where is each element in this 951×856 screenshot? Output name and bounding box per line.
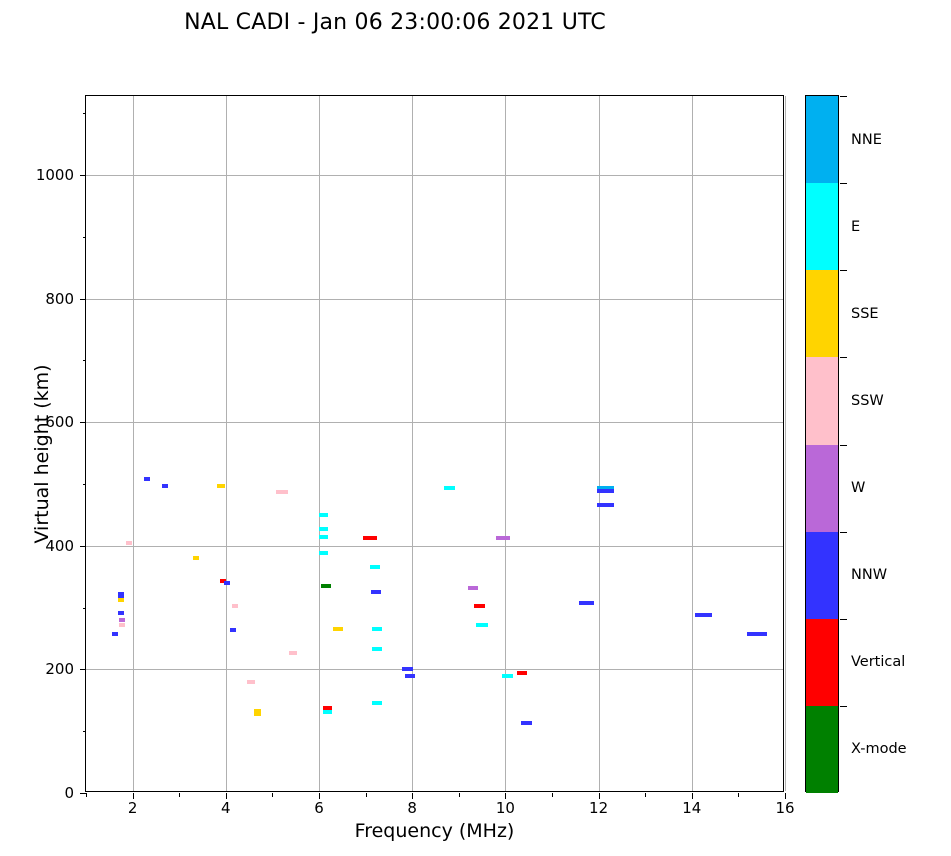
echo-marker — [372, 627, 382, 631]
x-minor-tick — [179, 793, 180, 797]
echo-marker — [444, 486, 456, 490]
x-tick-label: 10 — [496, 799, 515, 817]
x-minor-tick — [645, 793, 646, 797]
colorbar-label-nne: NNE — [851, 132, 882, 148]
y-gridline — [86, 669, 783, 670]
echo-marker — [517, 671, 527, 675]
echo-marker — [118, 611, 124, 615]
colorbar-tick — [840, 619, 847, 620]
echo-marker — [323, 710, 332, 714]
x-minor-tick — [459, 793, 460, 797]
x-gridline — [692, 96, 693, 791]
colorbar-label-sse: SSE — [851, 306, 879, 322]
echo-marker — [319, 513, 328, 517]
colorbar-segment-vertical[interactable] — [806, 619, 838, 706]
echo-marker — [695, 613, 713, 617]
echo-marker — [126, 541, 132, 545]
echo-marker — [112, 632, 118, 636]
echo-marker — [363, 536, 377, 540]
colorbar-tick — [840, 183, 847, 184]
colorbar-segment-sse[interactable] — [806, 270, 838, 357]
y-gridline — [86, 175, 783, 176]
echo-marker — [119, 623, 125, 627]
y-minor-tick — [83, 731, 87, 732]
colorbar-tick — [840, 357, 847, 358]
colorbar-label-ssw: SSW — [851, 393, 884, 409]
x-tick-label: 2 — [128, 799, 138, 817]
echo-marker — [521, 721, 532, 725]
echo-marker — [502, 674, 513, 678]
colorbar-label-e: E — [851, 219, 860, 235]
colorbar-label-w: W — [851, 480, 865, 496]
x-gridline — [505, 96, 506, 791]
echo-marker — [370, 565, 380, 569]
echo-marker — [747, 632, 767, 636]
y-tick — [80, 175, 86, 176]
echo-marker — [333, 627, 343, 631]
echo-marker — [232, 604, 238, 608]
echo-marker — [321, 584, 330, 588]
x-minor-tick — [366, 793, 367, 797]
y-tick-label: 200 — [45, 660, 74, 678]
echo-marker — [118, 598, 124, 602]
colorbar-tick — [840, 706, 847, 707]
x-tick-label: 6 — [314, 799, 324, 817]
y-tick-label: 1000 — [36, 166, 74, 184]
y-tick — [80, 793, 86, 794]
x-minor-tick — [272, 793, 273, 797]
x-tick-label: 16 — [775, 799, 794, 817]
colorbar-label-nnw: NNW — [851, 567, 887, 583]
echo-marker — [276, 490, 288, 494]
y-gridline — [86, 299, 783, 300]
echo-marker — [230, 628, 236, 632]
y-axis-title: Virtual height (km) — [31, 324, 53, 584]
colorbar-tick — [840, 445, 847, 446]
x-tick-label: 8 — [407, 799, 417, 817]
colorbar-segment-w[interactable] — [806, 445, 838, 532]
echo-marker — [468, 586, 478, 590]
colorbar-segment-e[interactable] — [806, 183, 838, 270]
echo-marker — [474, 604, 485, 608]
x-tick-label: 14 — [682, 799, 701, 817]
y-tick — [80, 669, 86, 670]
echo-marker — [144, 477, 150, 481]
y-minor-tick — [83, 608, 87, 609]
y-gridline — [86, 546, 783, 547]
echo-marker — [319, 527, 328, 531]
y-minor-tick — [83, 484, 87, 485]
y-tick — [80, 546, 86, 547]
x-gridline — [599, 96, 600, 791]
echo-marker — [193, 556, 199, 560]
colorbar-tick — [840, 532, 847, 533]
echo-marker — [319, 535, 328, 539]
y-minor-tick — [83, 237, 87, 238]
echo-marker — [476, 623, 488, 627]
echo-marker — [372, 647, 382, 651]
echo-marker — [247, 680, 255, 684]
x-minor-tick — [552, 793, 553, 797]
echo-marker — [217, 484, 225, 488]
x-gridline — [133, 96, 134, 791]
x-minor-tick — [86, 793, 87, 797]
echo-marker — [402, 667, 412, 671]
y-tick-label: 0 — [64, 784, 74, 802]
colorbar-segment-x-mode[interactable] — [806, 706, 838, 793]
x-minor-tick — [738, 793, 739, 797]
ionogram-plot-area: 24681012141602004006008001000 — [85, 95, 784, 792]
echo-marker — [405, 674, 415, 678]
echo-marker — [224, 581, 231, 585]
echo-marker — [496, 536, 510, 540]
colorbar-tick — [840, 270, 847, 271]
colorbar-segment-nne[interactable] — [806, 96, 838, 183]
x-gridline — [226, 96, 227, 791]
x-tick-label: 4 — [221, 799, 231, 817]
echo-marker — [162, 484, 168, 488]
echo-marker — [319, 551, 328, 555]
echo-marker — [372, 701, 382, 705]
y-gridline — [86, 422, 783, 423]
echo-marker — [597, 489, 613, 493]
colorbar-label-vertical: Vertical — [851, 654, 905, 670]
colorbar-segment-nnw[interactable] — [806, 532, 838, 619]
y-minor-tick — [83, 360, 87, 361]
echo-marker — [119, 618, 125, 622]
x-tick-label: 12 — [589, 799, 608, 817]
echo-marker — [371, 590, 381, 594]
y-minor-tick — [83, 113, 87, 114]
echo-marker — [254, 712, 261, 716]
colorbar-segment-ssw[interactable] — [806, 357, 838, 444]
x-gridline — [412, 96, 413, 791]
x-axis-title: Frequency (MHz) — [85, 820, 784, 842]
colorbar[interactable]: NNEESSESSWWNNWVerticalX-mode — [805, 95, 839, 792]
y-tick — [80, 422, 86, 423]
y-tick-label: 800 — [45, 290, 74, 308]
echo-marker — [597, 503, 613, 507]
x-gridline — [785, 96, 786, 791]
y-tick — [80, 299, 86, 300]
echo-marker — [289, 651, 297, 655]
x-gridline — [319, 96, 320, 791]
echo-marker — [579, 601, 594, 605]
page-title: NAL CADI - Jan 06 23:00:06 2021 UTC — [0, 10, 790, 35]
colorbar-tick — [840, 96, 847, 97]
colorbar-label-x-mode: X-mode — [851, 741, 907, 757]
